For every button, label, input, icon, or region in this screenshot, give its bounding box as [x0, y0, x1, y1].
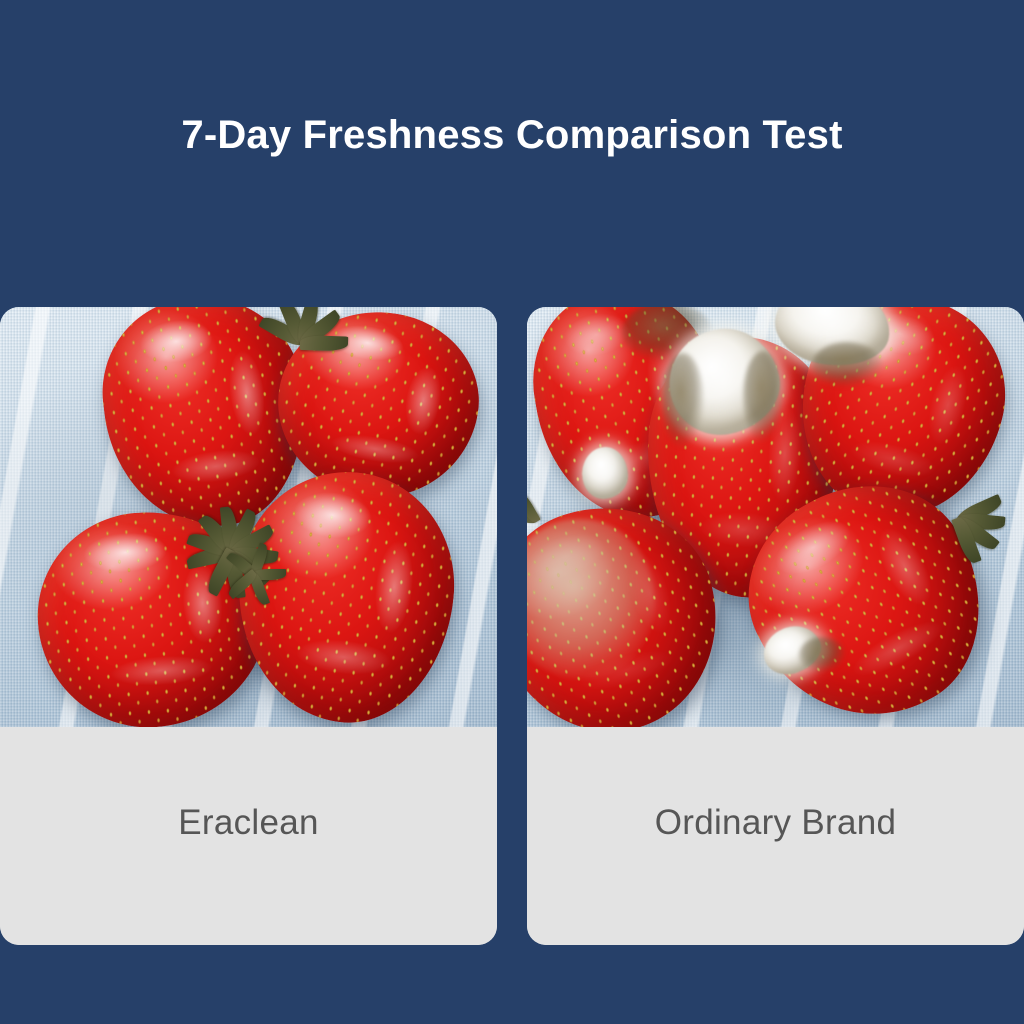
comparison-row: Eraclean — [0, 307, 1024, 945]
mold-patch — [582, 447, 628, 499]
rot-patch — [662, 353, 704, 449]
title-bar: 7-Day Freshness Comparison Test — [0, 0, 1024, 307]
caption-panel-ordinary-brand: Ordinary Brand — [527, 727, 1024, 945]
rot-patch — [799, 637, 845, 673]
product-photo-eraclean — [0, 307, 497, 727]
comparison-card-ordinary-brand[interactable]: Ordinary Brand — [527, 307, 1024, 945]
caption-panel-eraclean: Eraclean — [0, 727, 497, 945]
product-photo-ordinary-brand — [527, 307, 1024, 727]
rot-patch — [743, 351, 783, 443]
comparison-card-eraclean[interactable]: Eraclean — [0, 307, 497, 945]
page-title: 7-Day Freshness Comparison Test — [181, 113, 842, 158]
card-label-ordinary-brand: Ordinary Brand — [655, 803, 897, 843]
card-label-eraclean: Eraclean — [178, 803, 319, 843]
rot-patch — [812, 342, 882, 388]
comparison-infographic: 7-Day Freshness Comparison Test — [0, 0, 1024, 1024]
